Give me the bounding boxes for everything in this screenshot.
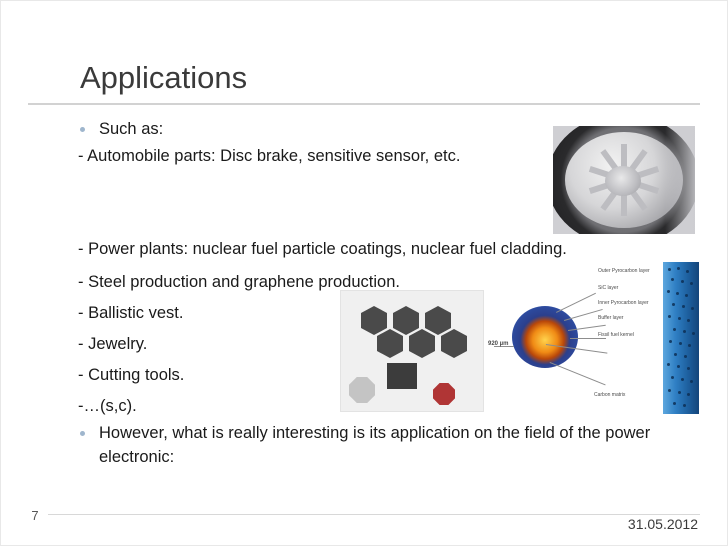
line-etc: -…(s,c). <box>78 393 137 419</box>
bullet-such-as: Such as: <box>78 117 163 142</box>
triso-label-outer-pyrocarbon: Outer Pyrocarbon layer <box>598 268 650 274</box>
page-title: Applications <box>80 60 247 96</box>
triso-dimension-label: 920 µm <box>488 341 508 347</box>
octagon-tile <box>349 377 375 403</box>
triso-label-fuel-kernel: Fissil fuel kernel <box>598 332 634 338</box>
triso-particle-diagram: Outer Pyrocarbon layer SiC layer Inner P… <box>484 258 658 413</box>
callout-line <box>550 362 606 385</box>
alloy-wheel-photo <box>553 126 695 234</box>
red-octagon-tile <box>433 383 455 405</box>
line-ballistic: - Ballistic vest. <box>78 300 183 326</box>
line-cutting-tools: - Cutting tools. <box>78 362 184 388</box>
hex-tile <box>361 313 387 328</box>
bullet-however: However, what is really interesting is i… <box>78 421 715 469</box>
square-tile <box>387 363 417 389</box>
slide-date: 31.05.2012 <box>628 516 698 532</box>
bullet-however-text: However, what is really interesting is i… <box>99 421 715 469</box>
page-number: 7 <box>22 502 48 528</box>
line-jewelry: - Jewelry. <box>78 331 147 357</box>
triso-label-inner-pyrocarbon: Inner Pyrocarbon layer <box>598 300 649 306</box>
triso-label-carbon-matrix: Carbon matrix <box>594 392 625 398</box>
callout-line <box>564 309 603 321</box>
title-divider <box>28 103 700 105</box>
wheel-hub <box>605 166 641 196</box>
hex-tile <box>409 336 435 351</box>
callout-line <box>570 338 606 339</box>
hex-tile <box>441 336 467 351</box>
hex-tile <box>393 313 419 328</box>
callout-line <box>556 293 596 313</box>
bullet-dot-icon <box>80 127 85 132</box>
triso-kernel-graphic <box>512 306 578 368</box>
hex-tile <box>425 313 451 328</box>
footer-divider <box>28 514 700 515</box>
hex-tile <box>377 336 403 351</box>
triso-label-sic: SiC layer <box>598 285 618 291</box>
bullet-such-as-text: Such as: <box>99 120 163 138</box>
bullet-dot-icon <box>80 431 85 436</box>
wheel-photo-shading <box>665 126 695 234</box>
ceramic-tiles-photo <box>340 290 484 412</box>
porous-sic-strip-photo <box>663 262 699 414</box>
slide: Applications Such as: - Automobile parts… <box>0 0 728 546</box>
triso-label-buffer: Buffer layer <box>598 315 623 321</box>
line-automobile: - Automobile parts: Disc brake, sensitiv… <box>78 143 460 169</box>
